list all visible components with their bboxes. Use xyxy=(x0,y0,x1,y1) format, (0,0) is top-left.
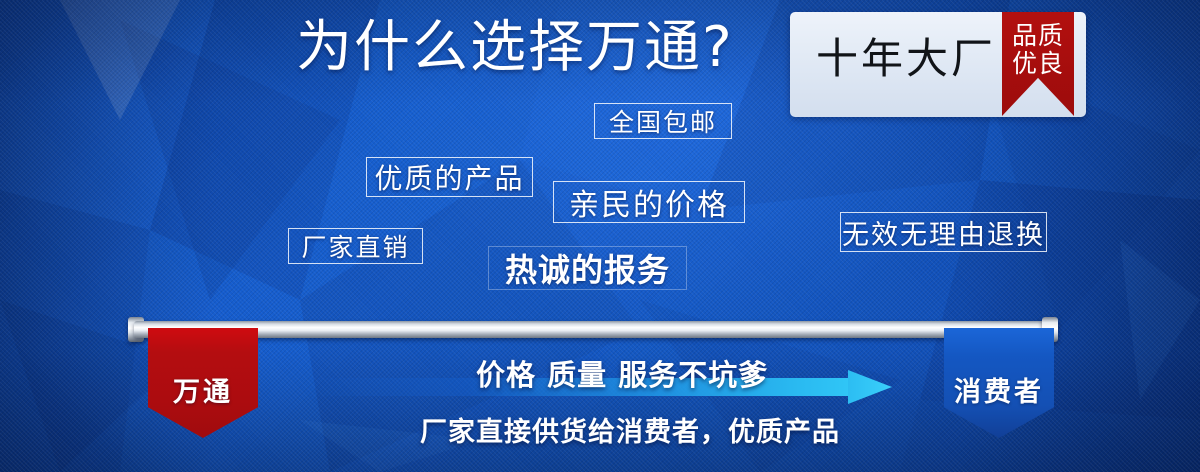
quality-badge: 十年大厂 品质 优良 xyxy=(790,12,1086,117)
feature-tag-free-shipping: 全国包邮 xyxy=(594,103,732,139)
pennant-target-label: 消费者 xyxy=(954,370,1044,409)
page-title: 为什么选择万通? xyxy=(296,16,734,80)
flow-middle-text: 价格 质量 服务不坑爹 xyxy=(476,352,768,394)
feature-tag-factory-direct: 厂家直销 xyxy=(288,228,423,264)
flow-bottom-text: 厂家直接供货给消费者，优质产品 xyxy=(420,410,840,449)
arrow-head-icon xyxy=(848,370,892,404)
pennant-source-label: 万通 xyxy=(173,370,233,409)
badge-label: 十年大厂 xyxy=(816,38,996,80)
hanging-rod xyxy=(134,321,1054,338)
feature-tag-friendly-price: 亲民的价格 xyxy=(553,181,745,223)
feature-tag-sincere-service: 热诚的报务 xyxy=(488,246,687,290)
feature-tag-quality-product: 优质的产品 xyxy=(366,157,533,197)
quality-ribbon: 品质 优良 xyxy=(1002,12,1074,116)
promo-banner: 为什么选择万通? 十年大厂 品质 优良 全国包邮 优质的产品 亲民的价格 厂家直… xyxy=(0,0,1200,472)
ribbon-line-1: 品质 xyxy=(1002,12,1074,50)
feature-tag-free-returns: 无效无理由退换 xyxy=(840,212,1047,252)
ribbon-line-2: 优良 xyxy=(1002,50,1074,78)
